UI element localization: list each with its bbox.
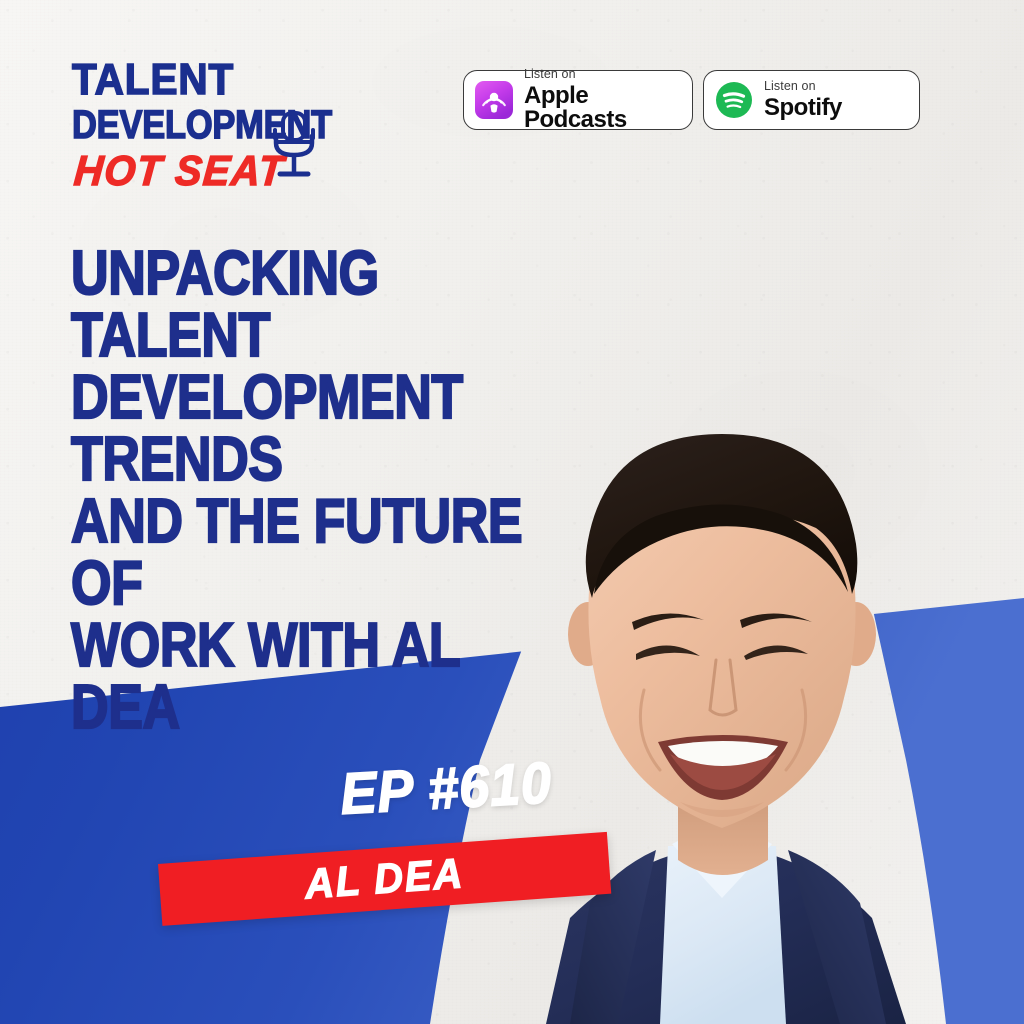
spotify-badge-text: Listen on Spotify [764, 80, 842, 120]
spotify-badge-eyebrow: Listen on [764, 80, 842, 93]
spotify-badge-name: Spotify [764, 96, 842, 120]
brand-logo: TALENT DEVELOPMENT HOT SEAT [72, 58, 332, 193]
microphone-icon [268, 110, 320, 186]
apple-badge-name: Apple Podcasts [524, 84, 676, 132]
episode-title: UNPACKING TALENT DEVELOPMENT TRENDS AND … [71, 243, 575, 739]
podcast-episode-cover: TALENT DEVELOPMENT HOT SEAT [0, 0, 1024, 1024]
logo-line-talent: TALENT [72, 58, 234, 102]
listen-on-apple-podcasts-badge[interactable]: Listen on Apple Podcasts [463, 70, 693, 130]
logo-line-hot-seat: HOT SEAT [73, 150, 287, 192]
listen-on-spotify-badge[interactable]: Listen on Spotify [703, 70, 920, 130]
spotify-icon [715, 81, 753, 119]
apple-badge-text: Listen on Apple Podcasts [524, 68, 676, 132]
guest-name-text: AL DEA [304, 852, 466, 905]
listen-badges: Listen on Apple Podcasts Listen on Spoti… [463, 70, 920, 130]
apple-badge-eyebrow: Listen on [524, 68, 676, 81]
episode-number: EP #610 [339, 754, 553, 824]
apple-podcasts-icon [475, 81, 513, 119]
